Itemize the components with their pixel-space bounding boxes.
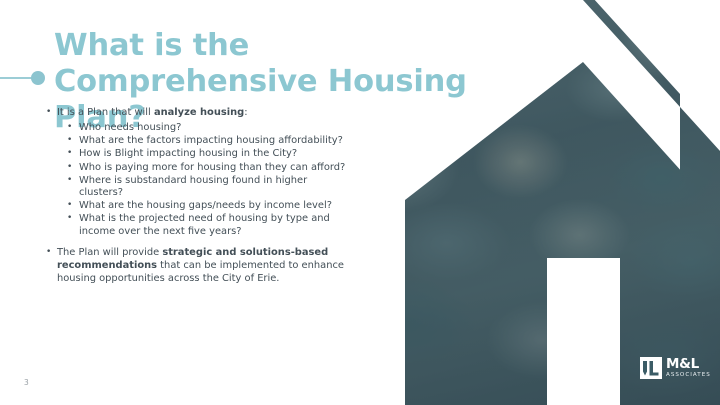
bullet-marker-icon: • (46, 247, 51, 259)
bullet-text: It is a Plan that will (57, 107, 154, 118)
bullet-item-level1: •The Plan will provide strategic and sol… (44, 247, 354, 286)
bullet-sublist: •Who needs housing?•What are the factors… (44, 122, 354, 238)
bullet-item-level2: •How is Blight impacting housing in the … (65, 148, 354, 160)
bullet-text: Who needs housing? (79, 122, 181, 133)
accent-dot-icon (31, 71, 45, 85)
logo-name: M&L (666, 358, 711, 372)
bullet-item-level2: •What is the projected need of housing b… (65, 213, 354, 237)
logo-subtitle: ASSOCIATES (666, 373, 711, 379)
bullet-marker-icon: • (67, 122, 72, 133)
ml-monogram-icon (640, 357, 662, 379)
house-door (547, 258, 620, 405)
bullet-text: The Plan will provide (57, 247, 162, 258)
bullet-marker-icon: • (67, 213, 72, 224)
bullet-text: How is Blight impacting housing in the C… (79, 148, 297, 159)
accent-line (0, 77, 33, 79)
bullet-marker-icon: • (67, 200, 72, 211)
bullet-item-level2: •Where is substandard housing found in h… (65, 175, 354, 199)
company-logo: M&L ASSOCIATES (640, 357, 711, 379)
bullet-item-level2: •Who is paying more for housing than the… (65, 162, 354, 174)
logo-text: M&L ASSOCIATES (666, 358, 711, 379)
bullet-marker-icon: • (67, 135, 72, 146)
slide-body: •It is a Plan that will analyze housing:… (44, 107, 354, 287)
bullet-item-level2: •What are the housing gaps/needs by inco… (65, 200, 354, 212)
bullet-item-level1: •It is a Plan that will analyze housing: (44, 107, 354, 120)
bullet-text: What are the housing gaps/needs by incom… (79, 200, 332, 211)
bullet-text: What is the projected need of housing by… (79, 213, 330, 236)
slide-number: 3 (24, 378, 29, 387)
bullet-marker-icon: • (67, 175, 72, 186)
bullet-text: : (244, 107, 247, 118)
bullet-list: •It is a Plan that will analyze housing:… (44, 107, 354, 285)
bullet-marker-icon: • (67, 148, 72, 159)
presentation-slide: What is the Comprehensive Housing Plan? … (0, 0, 720, 405)
bullet-marker-icon: • (46, 107, 51, 119)
bullet-item-level2: •Who needs housing? (65, 122, 354, 134)
bullet-text: What are the factors impacting housing a… (79, 135, 343, 146)
bullet-text: Where is substandard housing found in hi… (79, 175, 307, 198)
bullet-marker-icon: • (67, 162, 72, 173)
bullet-text: Who is paying more for housing than they… (79, 162, 345, 173)
bullet-item-level2: •What are the factors impacting housing … (65, 135, 354, 147)
bullet-text-emphasis: analyze housing (154, 107, 244, 118)
